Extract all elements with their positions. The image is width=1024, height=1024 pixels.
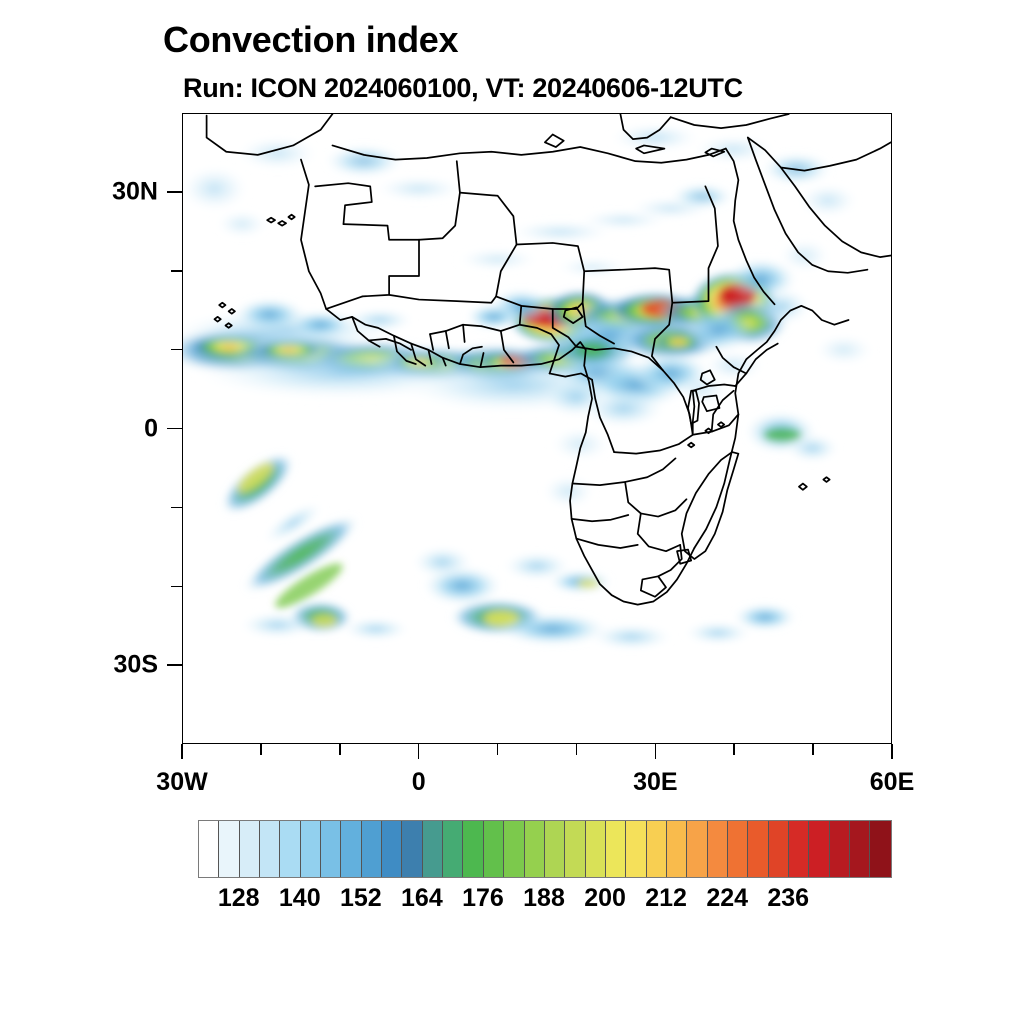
colorbar-segment[interactable] <box>870 821 890 877</box>
colorbar-segment[interactable] <box>402 821 422 877</box>
x-axis-label: 0 <box>412 768 426 797</box>
x-axis-label: 60E <box>870 768 914 797</box>
y-axis-tick <box>167 191 182 193</box>
colorbar-segment[interactable] <box>626 821 646 877</box>
y-axis-tick <box>171 270 182 272</box>
map-canvas <box>183 114 891 743</box>
colorbar-segment[interactable] <box>362 821 382 877</box>
x-axis-tick <box>260 744 262 755</box>
colorbar-tick-label: 152 <box>340 884 382 913</box>
x-axis-tick <box>339 744 341 755</box>
colorbar-segment[interactable] <box>708 821 728 877</box>
colorbar-segment[interactable] <box>382 821 402 877</box>
colorbar-tick-label: 212 <box>645 884 687 913</box>
colorbar-segment[interactable] <box>850 821 870 877</box>
colorbar-tick-label: 140 <box>279 884 321 913</box>
y-axis-tick <box>171 349 182 351</box>
colorbar-segment[interactable] <box>769 821 789 877</box>
colorbar-segment[interactable] <box>667 821 687 877</box>
colorbar-tick-label: 188 <box>523 884 565 913</box>
colorbar-tick-label: 200 <box>584 884 626 913</box>
colorbar-segment[interactable] <box>341 821 361 877</box>
weather-map-figure: Convection index Run: ICON 2024060100, V… <box>0 0 1024 1024</box>
colorbar-segment[interactable] <box>606 821 626 877</box>
y-axis-tick <box>167 664 182 666</box>
map-plot-area <box>182 113 892 744</box>
y-axis-label: 0 <box>144 414 158 443</box>
colorbar-segment[interactable] <box>565 821 585 877</box>
y-axis-label: 30S <box>114 651 158 680</box>
colorbar-segment[interactable] <box>240 821 260 877</box>
colorbar-segment[interactable] <box>545 821 565 877</box>
colorbar-segment[interactable] <box>199 821 219 877</box>
run-validtime-subtitle: Run: ICON 2024060100, VT: 20240606-12UTC <box>183 73 743 104</box>
colorbar-segment[interactable] <box>280 821 300 877</box>
colorbar-segment[interactable] <box>728 821 748 877</box>
colorbar-segment[interactable] <box>748 821 768 877</box>
colorbar-tick-label: 128 <box>218 884 260 913</box>
x-axis-label: 30W <box>156 768 207 797</box>
colorbar-segment[interactable] <box>443 821 463 877</box>
x-axis-tick <box>497 744 499 755</box>
colorbar-segment[interactable] <box>463 821 483 877</box>
colorbar-segment[interactable] <box>504 821 524 877</box>
colorbar-segment[interactable] <box>647 821 667 877</box>
x-axis-tick <box>812 744 814 755</box>
colorbar-segment[interactable] <box>321 821 341 877</box>
y-axis-tick <box>167 428 182 430</box>
colorbar-tick-label: 164 <box>401 884 443 913</box>
x-axis-tick <box>655 744 657 759</box>
colorbar-segment[interactable] <box>830 821 850 877</box>
colorbar-tick-label: 176 <box>462 884 504 913</box>
colorbar-segment[interactable] <box>586 821 606 877</box>
page-title: Convection index <box>163 19 458 61</box>
colorbar-segment[interactable] <box>687 821 707 877</box>
colorbar-tick-label: 224 <box>706 884 748 913</box>
x-axis-tick <box>418 744 420 759</box>
x-axis-tick <box>891 744 893 759</box>
colorbar-segment[interactable] <box>789 821 809 877</box>
x-axis-tick <box>576 744 578 755</box>
colorbar-segment[interactable] <box>484 821 504 877</box>
colorbar-tick-label: 236 <box>767 884 809 913</box>
x-axis-tick <box>733 744 735 755</box>
colorbar[interactable] <box>198 820 892 878</box>
colorbar-segment[interactable] <box>423 821 443 877</box>
y-axis-tick <box>171 507 182 509</box>
colorbar-segment[interactable] <box>301 821 321 877</box>
y-axis-tick <box>171 586 182 588</box>
colorbar-segment[interactable] <box>219 821 239 877</box>
colorbar-segment[interactable] <box>260 821 280 877</box>
x-axis-tick <box>181 744 183 759</box>
colorbar-segment[interactable] <box>525 821 545 877</box>
x-axis-label: 30E <box>633 768 677 797</box>
map-vector-layer <box>183 114 891 743</box>
y-axis-label: 30N <box>112 177 158 206</box>
colorbar-segment[interactable] <box>809 821 829 877</box>
